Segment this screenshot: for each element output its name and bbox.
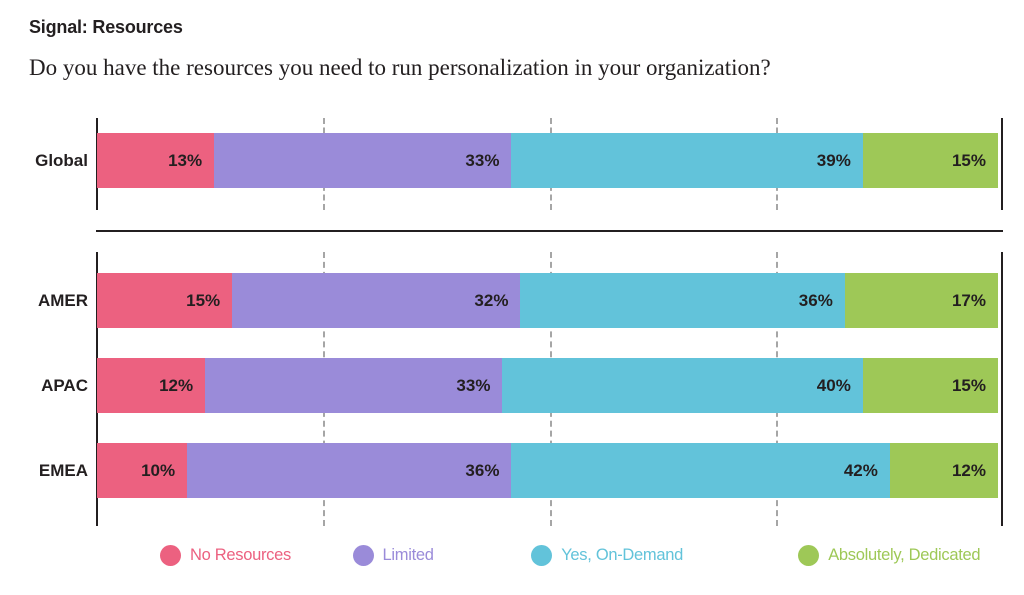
bar-segment[interactable]: 15% [863, 358, 998, 413]
stacked-bar-amer: 15%32%36%17% [97, 273, 998, 328]
bar-segment[interactable]: 10% [97, 443, 187, 498]
chart-row: AMER15%32%36%17% [0, 273, 1024, 328]
bar-segment[interactable]: 15% [97, 273, 232, 328]
row-label-amer: AMER [0, 273, 88, 328]
bar-segment-value: 12% [952, 461, 986, 481]
legend-item-label: No Resources [190, 546, 291, 565]
section-divider [96, 230, 1003, 232]
legend-color-swatch-icon [353, 545, 374, 566]
chart-row: Global13%33%39%15% [0, 133, 1024, 188]
legend-item-label: Yes, On-Demand [561, 546, 683, 565]
row-label-global: Global [0, 133, 88, 188]
chart-row: EMEA10%36%42%12% [0, 443, 1024, 498]
row-label-emea: EMEA [0, 443, 88, 498]
bar-segment-value: 39% [817, 151, 851, 171]
bar-segment-value: 33% [456, 376, 490, 396]
bar-segment-value: 36% [799, 291, 833, 311]
plot-area: Global13%33%39%15%AMER15%32%36%17%APAC12… [0, 0, 1024, 595]
bar-segment[interactable]: 32% [232, 273, 520, 328]
legend-item[interactable]: No Resources [160, 545, 291, 566]
bar-segment[interactable]: 12% [97, 358, 205, 413]
bar-segment[interactable]: 13% [97, 133, 214, 188]
row-label-apac: APAC [0, 358, 88, 413]
bar-segment-value: 17% [952, 291, 986, 311]
bar-segment[interactable]: 12% [890, 443, 998, 498]
legend-item[interactable]: Yes, On-Demand [531, 545, 683, 566]
stacked-bar-global: 13%33%39%15% [97, 133, 998, 188]
bar-segment-value: 15% [186, 291, 220, 311]
chart-row: APAC12%33%40%15% [0, 358, 1024, 413]
bar-segment[interactable]: 36% [187, 443, 511, 498]
bar-segment[interactable]: 42% [511, 443, 889, 498]
legend-item[interactable]: Limited [353, 545, 434, 566]
chart-legend: No ResourcesLimitedYes, On-DemandAbsolut… [160, 545, 980, 566]
legend-color-swatch-icon [798, 545, 819, 566]
bar-segment[interactable]: 15% [863, 133, 998, 188]
bar-segment-value: 33% [465, 151, 499, 171]
chart-root: Signal: Resources Do you have the resour… [0, 0, 1024, 595]
legend-item[interactable]: Absolutely, Dedicated [798, 545, 980, 566]
bar-segment-value: 15% [952, 376, 986, 396]
bar-segment-value: 10% [141, 461, 175, 481]
bar-segment-value: 40% [817, 376, 851, 396]
bar-segment-value: 15% [952, 151, 986, 171]
bar-segment[interactable]: 39% [511, 133, 862, 188]
bar-segment-value: 36% [465, 461, 499, 481]
bar-segment[interactable]: 17% [845, 273, 998, 328]
stacked-bar-emea: 10%36%42%12% [97, 443, 998, 498]
bar-segment-value: 13% [168, 151, 202, 171]
legend-item-label: Limited [383, 546, 434, 565]
bar-segment-value: 42% [844, 461, 878, 481]
bar-segment-value: 32% [474, 291, 508, 311]
legend-color-swatch-icon [531, 545, 552, 566]
bar-segment[interactable]: 33% [205, 358, 502, 413]
legend-item-label: Absolutely, Dedicated [828, 546, 980, 565]
bar-segment[interactable]: 33% [214, 133, 511, 188]
stacked-bar-apac: 12%33%40%15% [97, 358, 998, 413]
bar-segment[interactable]: 36% [520, 273, 844, 328]
legend-color-swatch-icon [160, 545, 181, 566]
bar-segment-value: 12% [159, 376, 193, 396]
bar-segment[interactable]: 40% [502, 358, 862, 413]
